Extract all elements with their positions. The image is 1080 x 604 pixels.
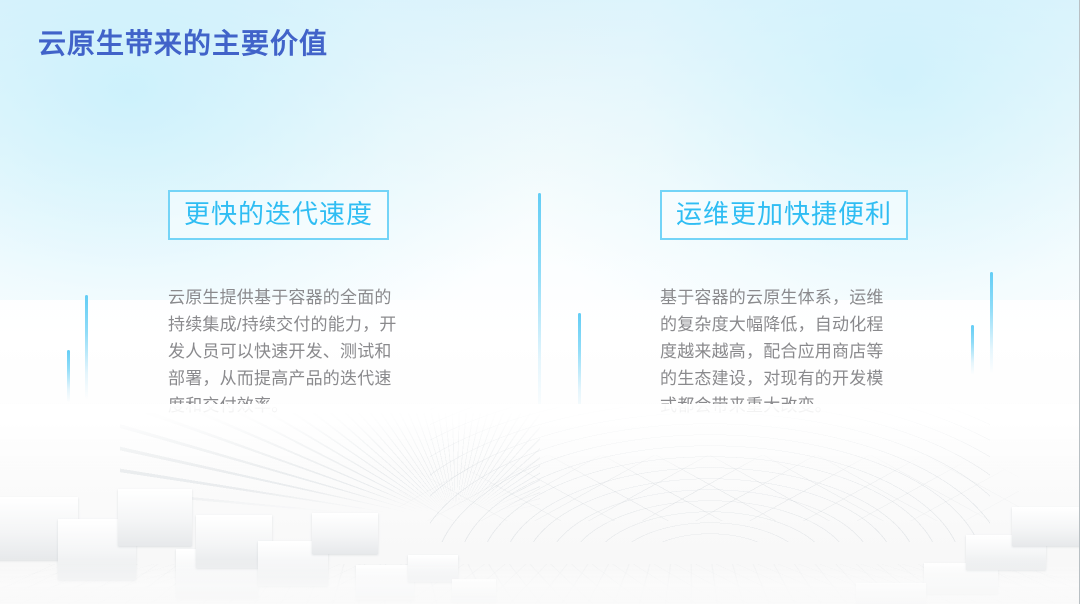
terrain-block xyxy=(356,565,414,600)
page-title: 云原生带来的主要价值 xyxy=(38,22,328,62)
background-terrain-artwork xyxy=(0,404,1079,604)
value-card-right-heading: 运维更加快捷便利 xyxy=(660,190,908,240)
accent-line-center-tall xyxy=(538,193,541,415)
terrain-arc-ridges xyxy=(430,404,990,542)
accent-line-right-outer xyxy=(990,272,993,374)
body-line: 云原生提供基于容器的全面的 xyxy=(168,284,418,311)
accent-line-left-outer xyxy=(67,350,70,402)
body-line: 基于容器的云原生体系，运维 xyxy=(660,284,910,311)
terrain-block xyxy=(452,579,496,602)
value-card-right-body: 基于容器的云原生体系，运维 的复杂度大幅降低，自动化程 度越来越高，配合应用商店… xyxy=(660,284,910,419)
accent-line-center-short xyxy=(578,313,581,415)
terrain-block xyxy=(924,563,998,594)
body-line: 度和交付效率。 xyxy=(168,392,418,419)
value-card-right: 运维更加快捷便利 基于容器的云原生体系，运维 的复杂度大幅降低，自动化程 度越来… xyxy=(660,190,960,419)
terrain-block xyxy=(118,489,192,546)
terrain-block xyxy=(0,497,78,560)
body-line: 度越来越高，配合应用商店等 xyxy=(660,338,910,365)
accent-line-left-inner xyxy=(85,295,88,399)
terrain-block xyxy=(258,541,328,586)
terrain-block xyxy=(408,555,458,582)
value-card-left-body: 云原生提供基于容器的全面的 持续集成/持续交付的能力，开 发人员可以快速开发、测… xyxy=(168,284,418,419)
slide-canvas: 云原生带来的主要价值 更快的迭代速度 云原生提供基于容器的全面的 持续集成/持续… xyxy=(0,0,1080,604)
terrain-block xyxy=(312,513,378,554)
body-line: 发人员可以快速开发、测试和 xyxy=(168,338,418,365)
body-line: 持续集成/持续交付的能力，开 xyxy=(168,311,418,338)
terrain-block xyxy=(856,583,926,604)
terrain-block xyxy=(176,549,258,598)
terrain-spoke-rays xyxy=(120,404,540,512)
terrain-diamond-lattice xyxy=(399,455,1019,521)
terrain-block xyxy=(966,535,1046,570)
terrain-block xyxy=(1012,507,1079,546)
accent-line-right-inner xyxy=(971,325,974,375)
terrain-block xyxy=(196,515,272,568)
terrain-block xyxy=(58,519,136,580)
body-line: 的生态建设，对现有的开发模 xyxy=(660,365,910,392)
terrain-bottom-fog xyxy=(0,558,1079,604)
body-line: 部署，从而提高产品的迭代速 xyxy=(168,365,418,392)
body-line: 式都会带来重大改变。 xyxy=(660,392,910,419)
value-card-left: 更快的迭代速度 云原生提供基于容器的全面的 持续集成/持续交付的能力，开 发人员… xyxy=(168,190,468,419)
terrain-grid-plane xyxy=(0,564,1079,604)
body-line: 的复杂度大幅降低，自动化程 xyxy=(660,311,910,338)
value-card-left-heading: 更快的迭代速度 xyxy=(168,190,389,240)
